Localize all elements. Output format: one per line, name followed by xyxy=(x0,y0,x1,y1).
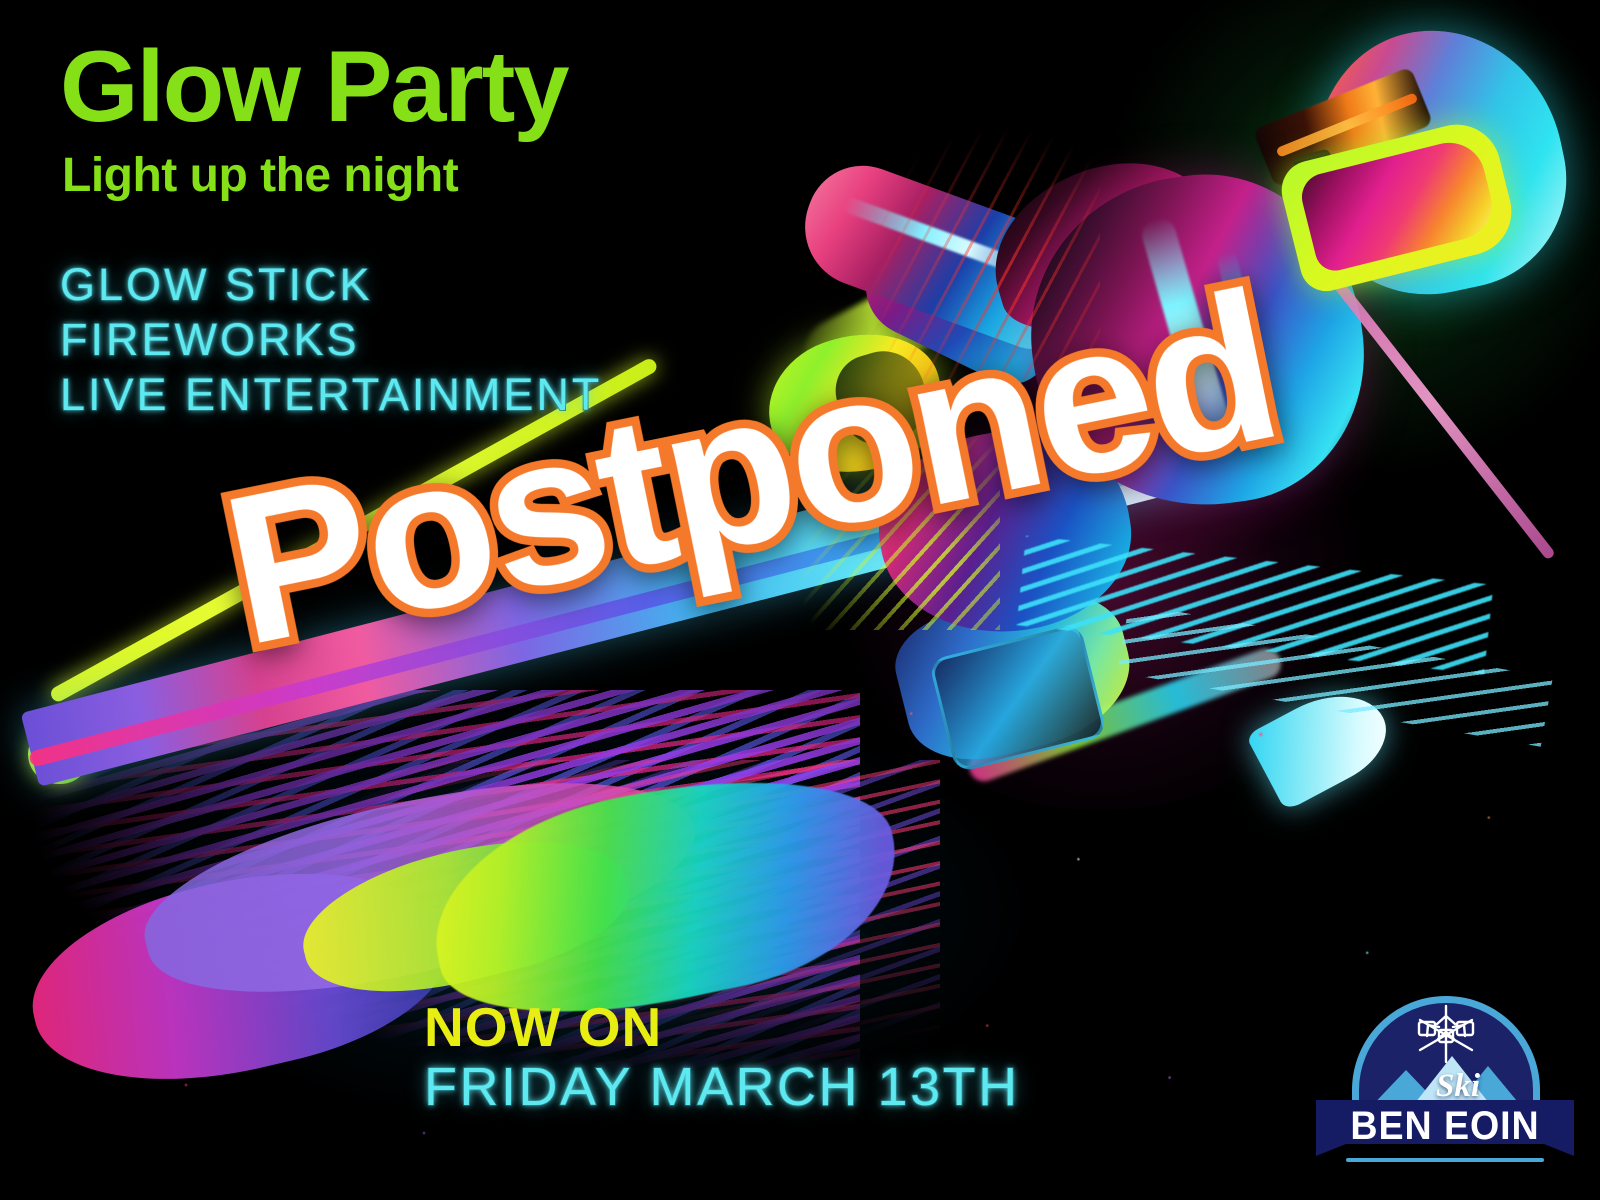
reschedule-label: NOW ON xyxy=(424,1000,662,1055)
ski-ben-eoin-logo[interactable]: Ski BEN EOIN xyxy=(1316,996,1574,1168)
page-title: Glow Party xyxy=(60,40,568,135)
helmet-icon xyxy=(1287,7,1586,315)
speed-streaks-cyan xyxy=(1017,536,1494,675)
helmet-strap-accent xyxy=(1276,92,1419,157)
goggle-vent xyxy=(1292,148,1346,225)
helmet-strap xyxy=(1253,66,1434,187)
goggles-icon xyxy=(1275,115,1520,296)
logo-script-word: Ski xyxy=(1436,1068,1480,1105)
speed-streaks-cyan-2 xyxy=(1117,603,1553,747)
ski-boot-icon xyxy=(885,574,1144,775)
feature-item-glow-stick: GLOW STICK xyxy=(60,262,602,307)
arm-highlight xyxy=(842,196,1049,284)
feature-item-fireworks: FIREWORKS xyxy=(60,317,602,362)
logo-underline xyxy=(1346,1158,1544,1162)
ski-pole-basket-icon xyxy=(28,726,88,784)
ski-iridescence xyxy=(965,644,1285,785)
logo-resort-name: BEN EOIN xyxy=(1324,1104,1567,1149)
spray-magenta xyxy=(14,835,466,1115)
spray-purple xyxy=(128,735,712,1035)
ski-binding xyxy=(928,623,1107,773)
goggle-lens xyxy=(1297,135,1499,275)
ski-tip xyxy=(1245,675,1400,812)
reschedule-date: FRIDAY MARCH 13TH xyxy=(424,1060,1020,1114)
page-subtitle: Light up the night xyxy=(62,152,458,200)
snowflake-icon xyxy=(1406,1004,1486,1066)
spray-yellow xyxy=(289,812,641,1018)
ski-pole-secondary xyxy=(1326,270,1556,560)
glow-party-poster: Glow Party Light up the night GLOW STICK… xyxy=(0,0,1600,1200)
